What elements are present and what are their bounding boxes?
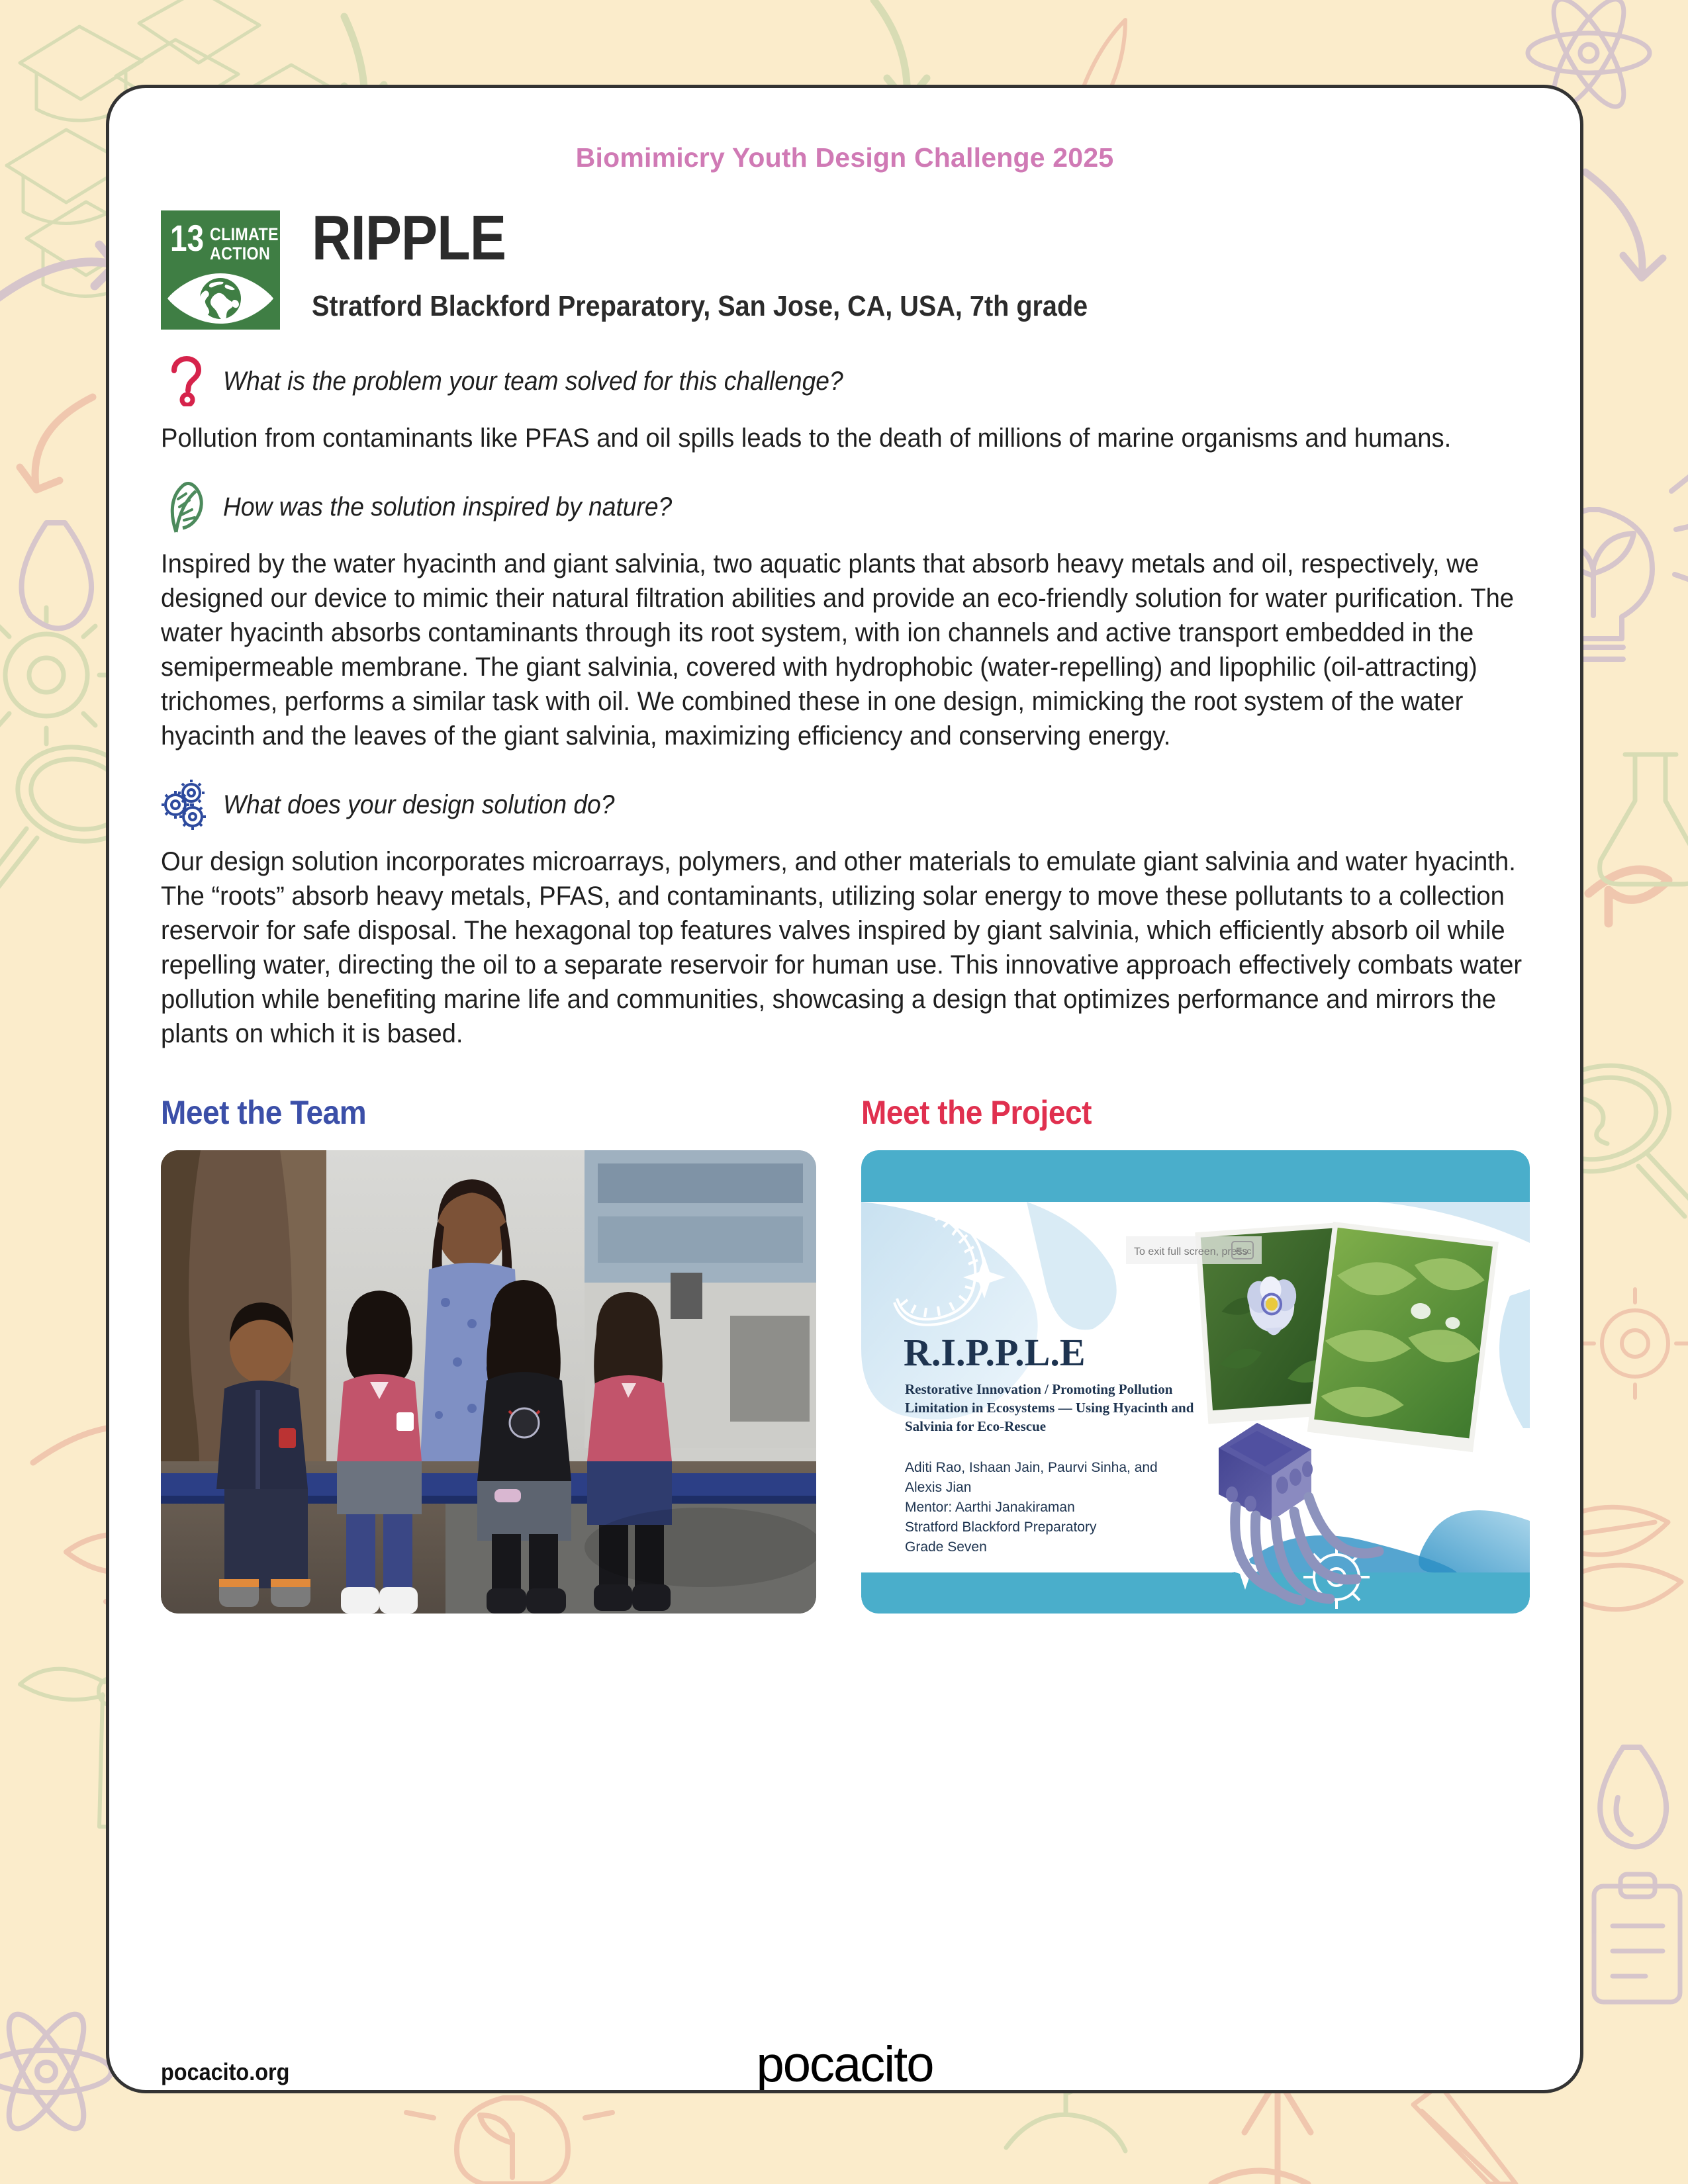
project-title-block: RIPPLE Stratford Blackford Preparatory, …	[312, 206, 1174, 323]
clipboard-doodle	[1594, 1874, 1680, 2002]
meet-the-team-heading: Meet the Team	[161, 1093, 764, 1132]
poster-subtitle-l1: Restorative Innovation / Promoting Pollu…	[905, 1381, 1173, 1397]
question-text-problem: What is the problem your team solved for…	[223, 367, 843, 396]
water-drop-doodle	[1600, 1747, 1666, 1847]
footer-url[interactable]: pocacito.org	[161, 2058, 289, 2086]
poster-school: Stratford Blackford Preparatory	[905, 1520, 1097, 1535]
answer-text-problem: Pollution from contaminants like PFAS an…	[161, 421, 1532, 455]
sdg-label-line2: ACTION	[210, 244, 279, 263]
poster-subtitle-l2: Limitation in Ecosystems — Using Hyacint…	[905, 1400, 1194, 1416]
question-row-design: What does your design solution do?	[161, 780, 1528, 830]
challenge-title: Biomimicry Youth Design Challenge 2025	[109, 142, 1580, 173]
answer-text-design: Our design solution incorporates microar…	[161, 844, 1532, 1051]
poster-subtitle-l3: Salvinia for Eco-Rescue	[905, 1418, 1046, 1434]
gear-doodle	[0, 608, 115, 744]
gears-icon	[161, 780, 211, 830]
gear-doodle	[1581, 1289, 1688, 1398]
sdg-label-line1: CLIMATE	[210, 225, 279, 244]
team-photo	[161, 1150, 816, 1614]
question-row-nature: How was the solution inspired by nature?	[161, 482, 1528, 532]
poster-authors-l2: Alexis Jian	[905, 1480, 971, 1495]
sdg-number: 13	[170, 221, 204, 255]
water-drop-doodle	[22, 523, 92, 629]
qa-block-nature: How was the solution inspired by nature?…	[161, 482, 1528, 753]
climate-action-eye-globe-icon	[166, 271, 275, 326]
leaf-icon	[161, 482, 211, 532]
poster-title: R.I.P.P.L.E	[904, 1331, 1086, 1374]
project-header-row: 13 CLIMATE ACTION RIPPLE Stratford Black…	[161, 206, 1580, 330]
showcase-section: Meet the Team	[161, 1093, 1528, 1614]
question-mark-icon	[161, 356, 211, 406]
team-column: Meet the Team	[161, 1093, 816, 1614]
qa-block-problem: What is the problem your team solved for…	[161, 356, 1528, 455]
question-text-design: What does your design solution do?	[223, 790, 614, 820]
pocacito-logo-rest: cito	[860, 2036, 933, 2093]
poster-card: Biomimicry Youth Design Challenge 2025 1…	[106, 85, 1583, 2093]
poster-mentor: Mentor: Aarthi Janakiraman	[905, 1500, 1075, 1515]
sdg-13-climate-action-badge: 13 CLIMATE ACTION	[161, 210, 280, 330]
poster-grade: Grade Seven	[905, 1539, 987, 1555]
school-line: Stratford Blackford Preparatory, San Jos…	[312, 290, 1088, 323]
atom-doodle	[0, 2005, 111, 2138]
meet-the-project-heading: Meet the Project	[861, 1093, 1476, 1132]
pocacito-logo: pocacito	[756, 2040, 933, 2090]
poster-authors-l1: Aditi Rao, Ishaan Jain, Paurvi Sinha, an…	[905, 1460, 1158, 1475]
qa-block-design: What does your design solution do? Our d…	[161, 780, 1528, 1051]
beaker-doodle	[1600, 754, 1688, 884]
question-text-nature: How was the solution inspired by nature?	[223, 492, 672, 522]
poster-overlay-note: To exit full screen, press	[1134, 1246, 1248, 1257]
recycle-doodle	[1211, 2078, 1311, 2184]
project-column: Meet the Project	[861, 1093, 1530, 1614]
question-row-problem: What is the problem your team solved for…	[161, 356, 1528, 406]
poster-overlay-key: Esc	[1236, 1246, 1251, 1256]
sdg-label: CLIMATE ACTION	[210, 225, 279, 263]
project-name: RIPPLE	[312, 206, 1053, 270]
pencil-doodle	[1413, 2085, 1516, 2184]
answer-text-nature: Inspired by the water hyacinth and giant…	[161, 547, 1532, 753]
pocacito-logo-underlined: poca	[756, 2036, 860, 2093]
project-poster: To exit full screen, press Esc R.I.P.P.L…	[861, 1150, 1530, 1614]
